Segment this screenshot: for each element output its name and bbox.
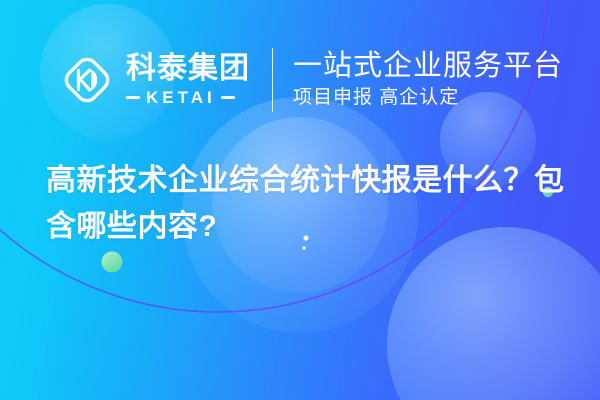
brand-rule-right-icon xyxy=(221,96,235,99)
banner-header: 科泰集团 KETAI 一站式企业服务平台 项目申报 高企认定 xyxy=(58,42,563,118)
tagline-block: 一站式企业服务平台 项目申报 高企认定 xyxy=(293,50,563,110)
brand-name-cn: 科泰集团 xyxy=(126,54,250,85)
decor-dot-green-large xyxy=(102,252,123,273)
page-title: 高新技术企业综合统计快报是什么？包含哪些内容? xyxy=(46,158,566,249)
decor-bubble-bottom-right xyxy=(387,227,600,400)
headline-block: 高新技术企业综合统计快报是什么？包含哪些内容? xyxy=(46,158,566,249)
brand-rule-left-icon xyxy=(126,96,140,99)
tagline-primary: 一站式企业服务平台 xyxy=(293,50,563,82)
brand-name-en-row: KETAI xyxy=(126,89,250,106)
tagline-secondary: 项目申报 高企认定 xyxy=(293,87,563,110)
brand-wordmark: 科泰集团 KETAI xyxy=(126,54,250,106)
brand-lockup[interactable]: 科泰集团 KETAI xyxy=(58,42,250,118)
header-divider xyxy=(272,48,273,112)
brand-name-en: KETAI xyxy=(146,89,216,106)
promo-banner: 科泰集团 KETAI 一站式企业服务平台 项目申报 高企认定 高新技术企业综合统… xyxy=(0,0,600,400)
ketai-diamond-kd-logo-icon xyxy=(58,51,116,109)
